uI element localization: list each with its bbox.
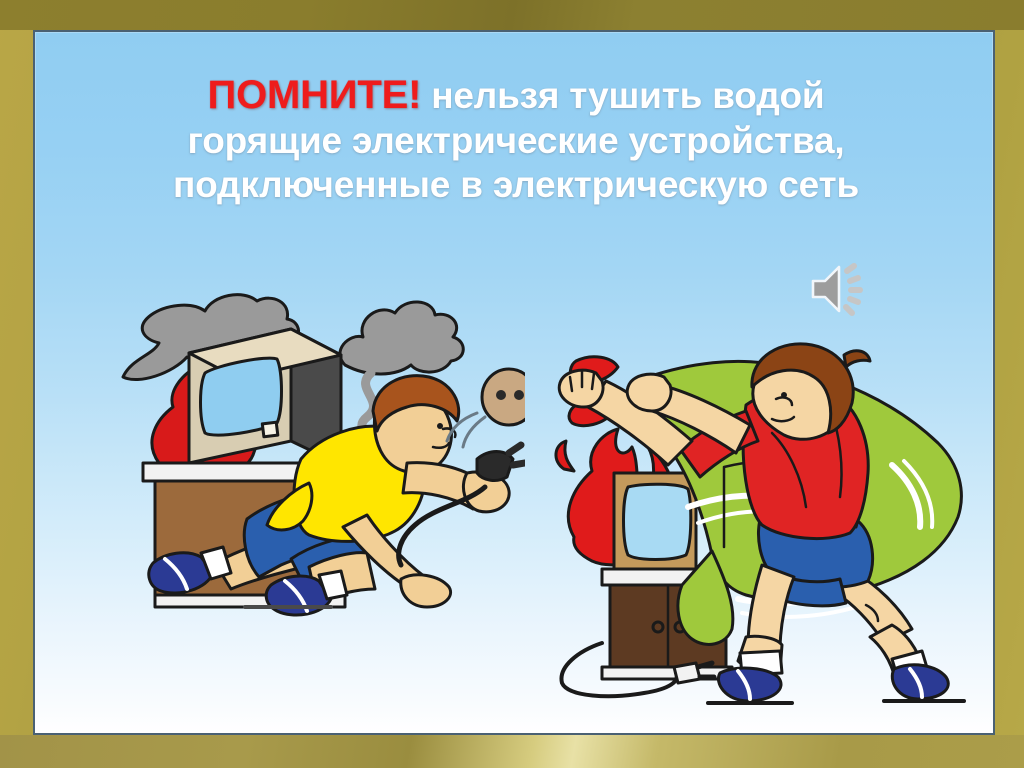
title-line-3: подключенные в электрическую сеть (35, 163, 995, 207)
presentation-slide: ПОМНИТЕ! нельзя тушить водой горящие эле… (33, 30, 995, 735)
title-line-1-rest: нельзя тушить водой (421, 75, 824, 116)
slide-outer-frame: ПОМНИТЕ! нельзя тушить водой горящие эле… (0, 0, 1024, 768)
frame-bottom-edge (0, 735, 1024, 768)
title-line-2: горящие электрические устройства, (35, 119, 995, 163)
speaker-icon[interactable] (805, 254, 875, 324)
illustration-cover-tv-with-blanket (540, 337, 995, 712)
illustration-unplug-burning-tv (95, 277, 525, 637)
title-line-1: ПОМНИТЕ! нельзя тушить водой (35, 72, 995, 119)
title-emphasis: ПОМНИТЕ! (208, 73, 422, 117)
slide-title: ПОМНИТЕ! нельзя тушить водой горящие эле… (35, 72, 995, 207)
frame-top-edge (0, 0, 1024, 30)
